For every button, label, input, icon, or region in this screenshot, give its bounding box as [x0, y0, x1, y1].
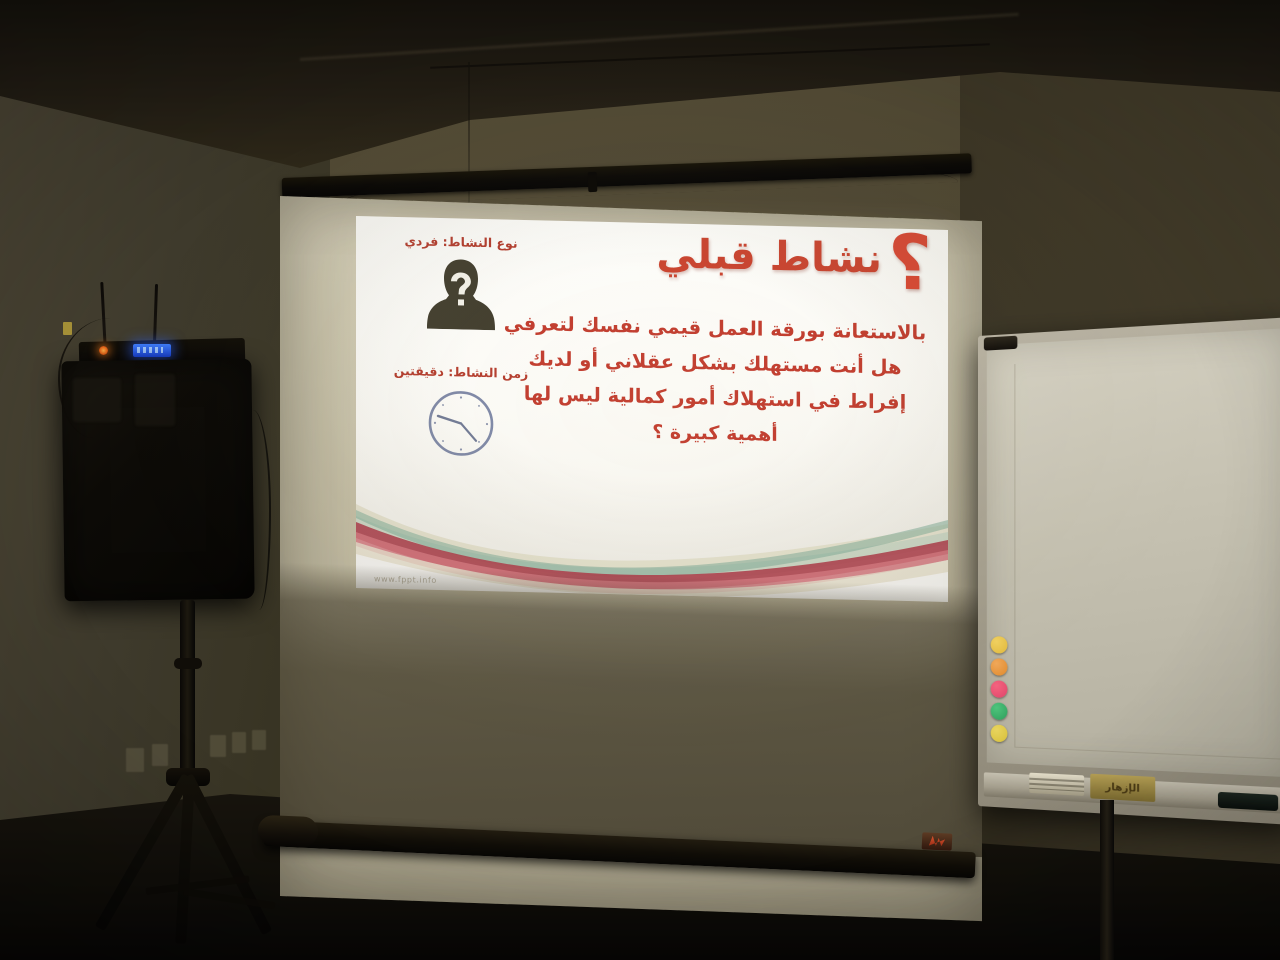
activity-time-block: زمن النشاط: دقيقتين: [372, 362, 550, 462]
person-question-icon: [423, 255, 499, 331]
slide-footer-url: www.fppt.info: [374, 574, 437, 584]
clock-icon: [424, 386, 498, 462]
whiteboard-marker[interactable]: [1218, 792, 1278, 811]
magnet[interactable]: [991, 636, 1008, 653]
speaker-tripod-stand: [118, 600, 288, 950]
decorative-wave-graphic: [356, 470, 948, 602]
question-mark-icon: ؟: [888, 231, 932, 297]
whiteboard: الإزهار: [978, 317, 1280, 825]
magnet[interactable]: [991, 702, 1008, 720]
slide-body: بالاستعانة بورقة العمل قيمي نفسك لتعرفي …: [500, 311, 930, 460]
slide-body-line: إفراط في استهلاك أمور كمالية ليس لها: [500, 381, 930, 416]
antenna-icon: [153, 284, 158, 344]
magnet[interactable]: [991, 724, 1008, 742]
activity-time-label: زمن النشاط: دقيقتين: [372, 362, 550, 381]
tripod-height-knob[interactable]: [174, 658, 202, 669]
whiteboard-surface[interactable]: [987, 328, 1280, 777]
projection-screen-assembly: ؟ نشاط قبلي بالاستعانة بورقة العمل قيمي …: [258, 172, 988, 952]
whiteboard-inner-edge: [1014, 350, 1280, 761]
slide-body-line: أهمية كبيرة ؟: [500, 416, 930, 450]
screen-brand-badge: [922, 832, 953, 850]
tripod-brace: [183, 888, 275, 909]
cable-tag: [63, 322, 72, 335]
slide-body-line: بالاستعانة بورقة العمل قيمي نفسك لتعرفي: [500, 311, 930, 346]
eraser-label: الإزهار: [1090, 774, 1155, 802]
whiteboard-stand-leg: [1100, 800, 1114, 960]
slide-title-row: ؟ نشاط قبلي: [656, 225, 932, 296]
slide-body-line: هل أنت مستهلك بشكل عقلاني أو لديك: [500, 346, 930, 381]
whiteboard-eraser[interactable]: [1029, 773, 1084, 796]
screen-hook: [588, 172, 598, 192]
tripod-leg: [183, 774, 273, 936]
slide-title: نشاط قبلي: [656, 231, 882, 288]
projected-slide: ؟ نشاط قبلي بالاستعانة بورقة العمل قيمي …: [356, 216, 948, 602]
magnet-group: [989, 636, 1015, 764]
tripod-column: [180, 600, 195, 790]
activity-type-block: نوع النشاط: فردي: [372, 232, 550, 331]
whiteboard-top-clip: [984, 336, 1018, 351]
classroom-photo-scene: ؟ نشاط قبلي بالاستعانة بورقة العمل قيمي …: [0, 0, 1280, 960]
magnet[interactable]: [991, 658, 1008, 676]
magnet[interactable]: [991, 680, 1008, 698]
activity-type-label: نوع النشاط: فردي: [372, 232, 550, 251]
